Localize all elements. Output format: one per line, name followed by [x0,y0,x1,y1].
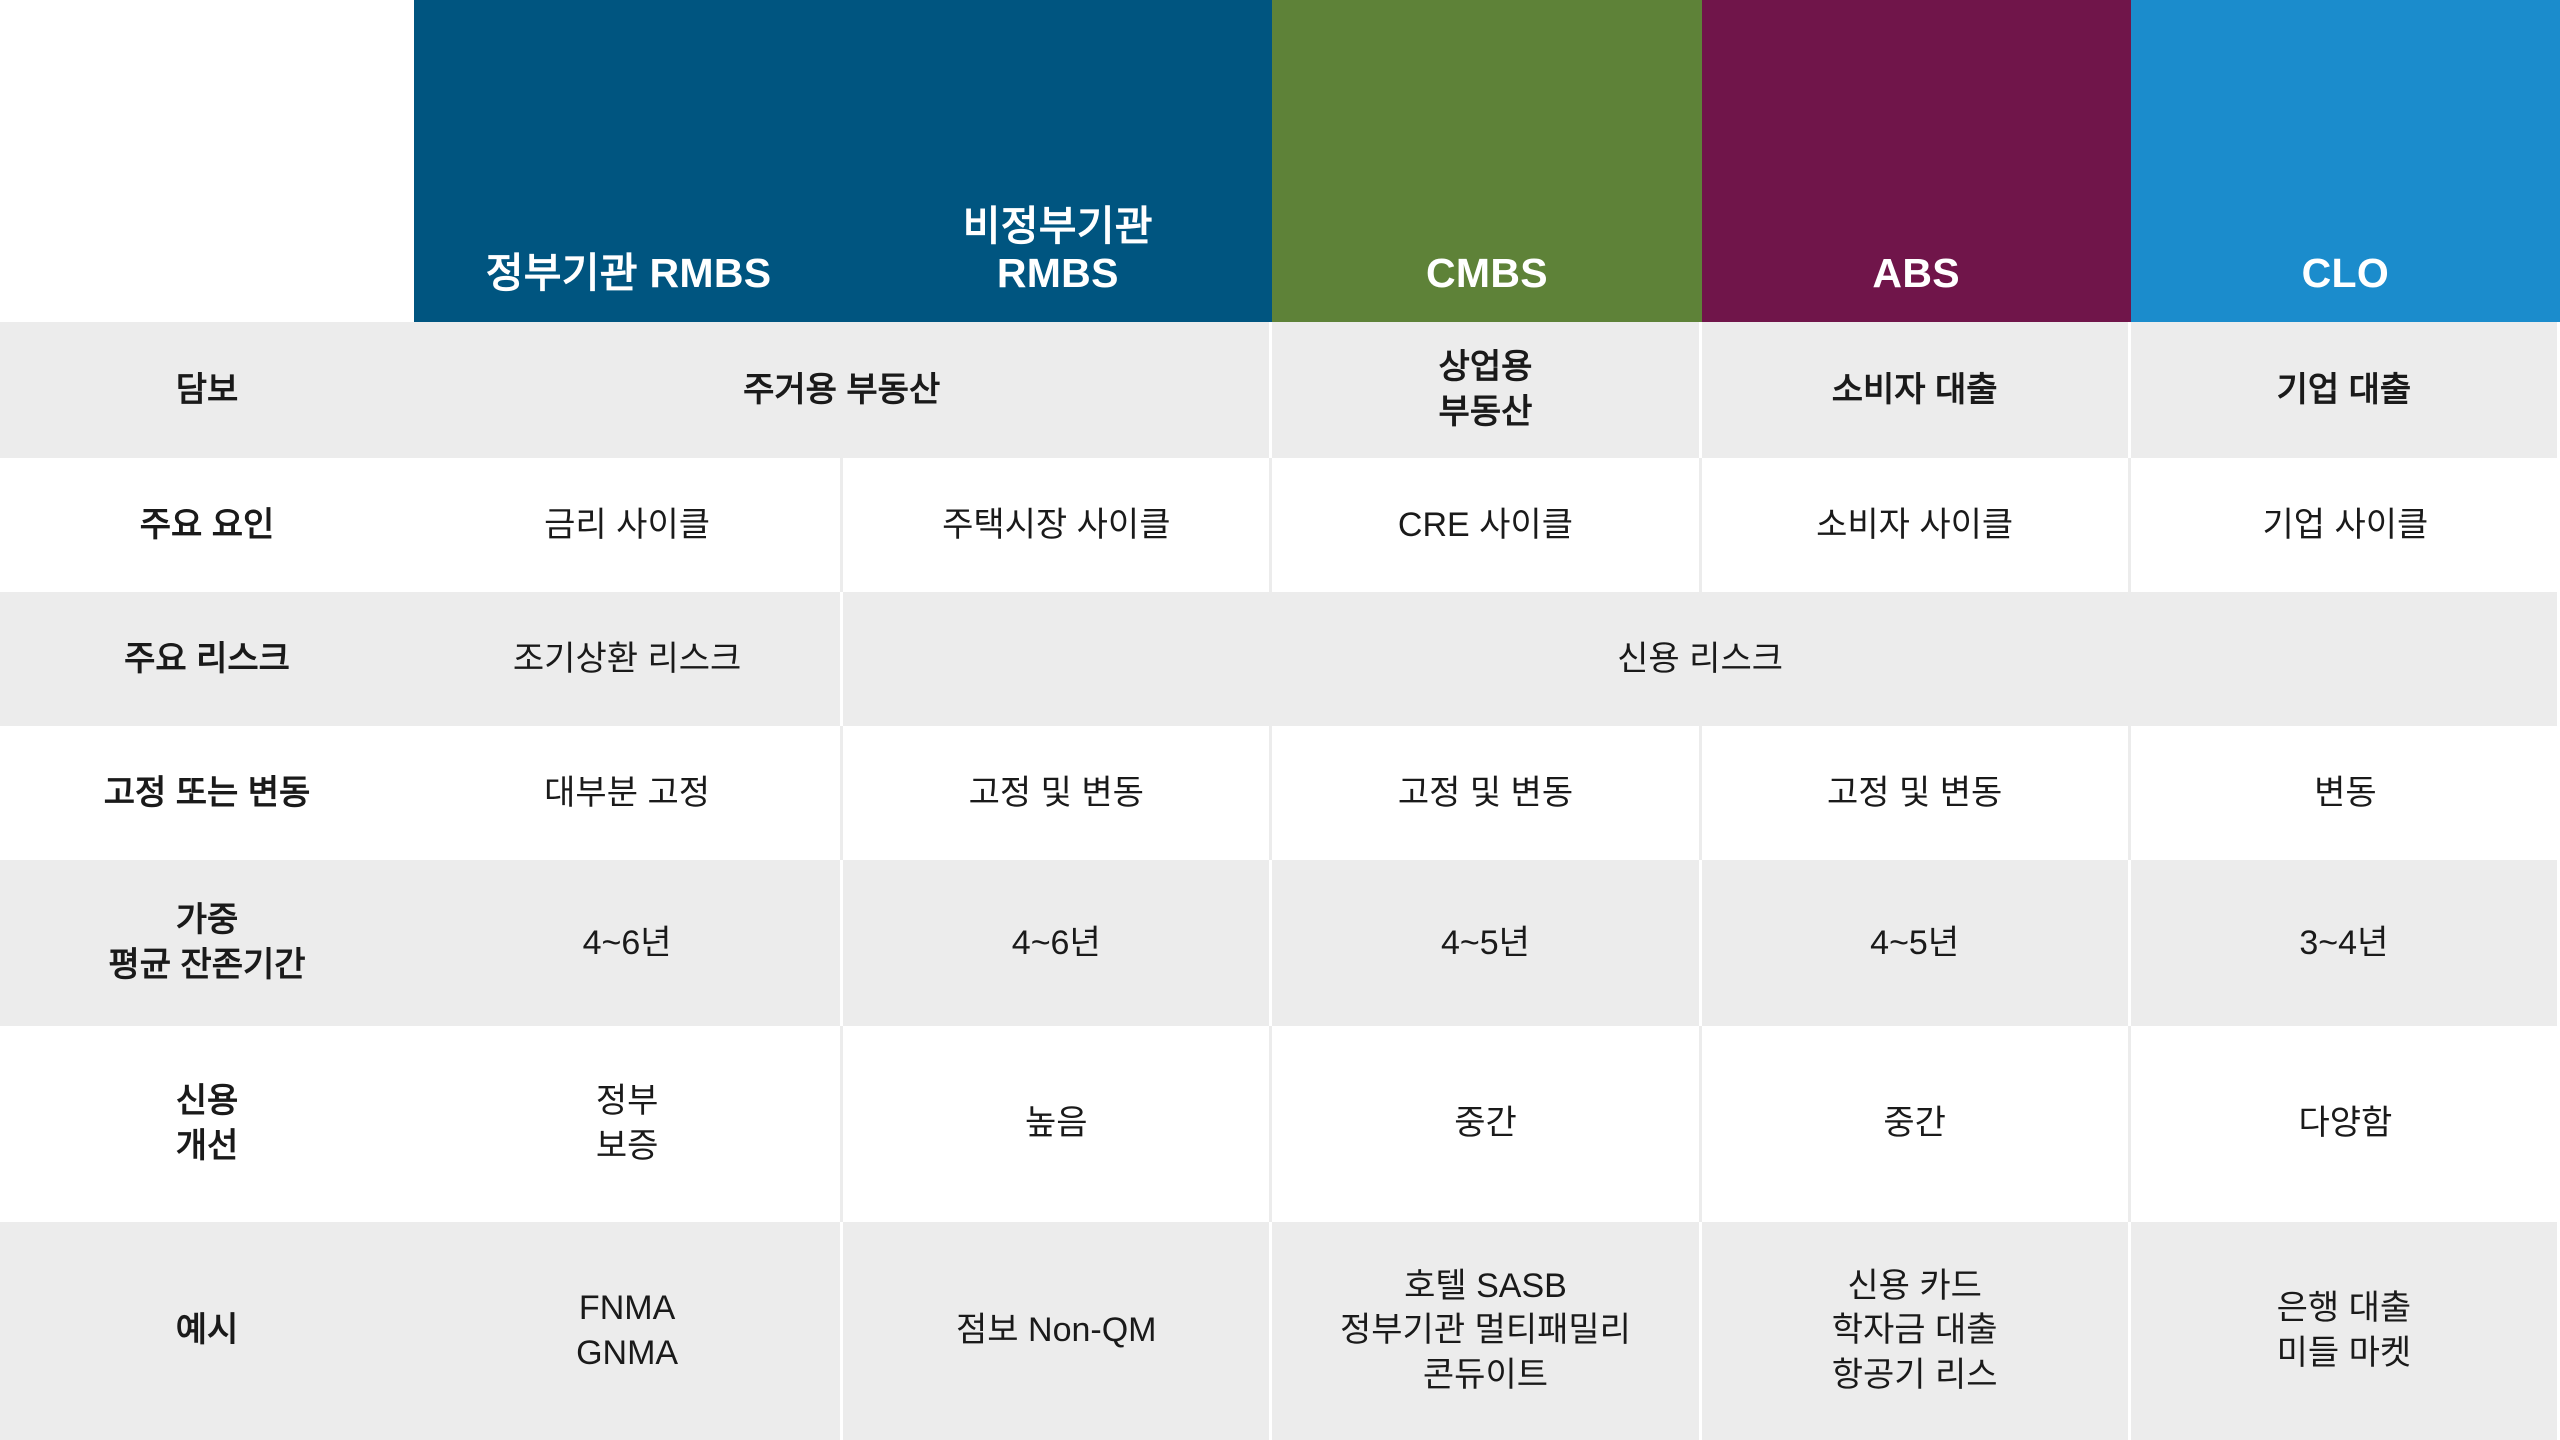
row-label-weighted-average-life: 가중 평균 잔존기간 [0,860,414,1026]
cell-rate-abs: 고정 및 변동 [1702,726,2131,860]
header-cell-nonagency-rmbs: 비정부기관 RMBS [843,0,1272,322]
cell-wal-abs: 4~5년 [1702,860,2131,1026]
table-row-collateral: 담보 주거용 부동산 상업용 부동산 소비자 대출 기업 대출 [0,322,2560,458]
header-row: 정부기관 RMBS 비정부기관 RMBS CMBS ABS CLO [0,0,2560,322]
cell-credit-nonagency-rmbs: 높음 [843,1026,1272,1222]
cell-examples-abs: 신용 카드 학자금 대출 항공기 리스 [1702,1222,2131,1440]
header-label-cmbs: CMBS [1282,250,1691,298]
cell-credit-clo: 다양함 [2131,1026,2560,1222]
header-label-abs: ABS [1712,250,2121,298]
header-cell-empty [0,0,414,322]
table-row-key-driver: 주요 요인 금리 사이클 주택시장 사이클 CRE 사이클 소비자 사이클 기업… [0,458,2560,592]
cell-collateral-commercial: 상업용 부동산 [1272,322,1701,458]
table-row-examples: 예시 FNMA GNMA 점보 Non-QM 호텔 SASB 정부기관 멀티패밀… [0,1222,2560,1440]
table-header: 정부기관 RMBS 비정부기관 RMBS CMBS ABS CLO [0,0,2560,322]
cell-rate-clo: 변동 [2131,726,2560,860]
cell-wal-cmbs: 4~5년 [1272,860,1701,1026]
comparison-table-slide: 정부기관 RMBS 비정부기관 RMBS CMBS ABS CLO 담보 주 [0,0,2560,1440]
cell-examples-cmbs: 호텔 SASB 정부기관 멀티패밀리 콘듀이트 [1272,1222,1701,1440]
cell-credit-abs: 중간 [1702,1026,2131,1222]
header-cell-clo: CLO [2131,0,2560,322]
cell-driver-cmbs: CRE 사이클 [1272,458,1701,592]
table-row-fixed-or-floating: 고정 또는 변동 대부분 고정 고정 및 변동 고정 및 변동 고정 및 변동 … [0,726,2560,860]
header-label-nonagency-rmbs: 비정부기관 RMBS [853,203,1262,298]
cell-driver-agency-rmbs: 금리 사이클 [414,458,843,592]
cell-wal-agency-rmbs: 4~6년 [414,860,843,1026]
cell-examples-nonagency-rmbs: 점보 Non-QM [843,1222,1272,1440]
header-cell-cmbs: CMBS [1272,0,1701,322]
cell-rate-agency-rmbs: 대부분 고정 [414,726,843,860]
header-label-clo: CLO [2141,250,2550,298]
table-row-credit-enhancement: 신용 개선 정부 보증 높음 중간 중간 다양함 [0,1026,2560,1222]
row-label-key-risk: 주요 리스크 [0,592,414,726]
cell-examples-agency-rmbs: FNMA GNMA [414,1222,843,1440]
cell-collateral-corporate: 기업 대출 [2131,322,2560,458]
row-label-examples: 예시 [0,1222,414,1440]
cell-rate-nonagency-rmbs: 고정 및 변동 [843,726,1272,860]
header-cell-abs: ABS [1702,0,2131,322]
table-body: 담보 주거용 부동산 상업용 부동산 소비자 대출 기업 대출 주요 요인 금리… [0,322,2560,1440]
row-label-credit-enhancement: 신용 개선 [0,1026,414,1222]
table-row-weighted-average-life: 가중 평균 잔존기간 4~6년 4~6년 4~5년 4~5년 3~4년 [0,860,2560,1026]
cell-examples-clo: 은행 대출 미들 마켓 [2131,1222,2560,1440]
securitized-products-comparison-table: 정부기관 RMBS 비정부기관 RMBS CMBS ABS CLO 담보 주 [0,0,2560,1440]
cell-credit-agency-rmbs: 정부 보증 [414,1026,843,1222]
header-label-agency-rmbs: 정부기관 RMBS [424,250,833,298]
cell-collateral-consumer: 소비자 대출 [1702,322,2131,458]
cell-credit-cmbs: 중간 [1272,1026,1701,1222]
cell-driver-nonagency-rmbs: 주택시장 사이클 [843,458,1272,592]
cell-wal-nonagency-rmbs: 4~6년 [843,860,1272,1026]
cell-collateral-residential: 주거용 부동산 [414,322,1272,458]
row-label-collateral: 담보 [0,322,414,458]
row-label-key-driver: 주요 요인 [0,458,414,592]
cell-risk-agency-rmbs: 조기상환 리스크 [414,592,843,726]
table-row-key-risk: 주요 리스크 조기상환 리스크 신용 리스크 [0,592,2560,726]
cell-rate-cmbs: 고정 및 변동 [1272,726,1701,860]
cell-risk-credit-merged: 신용 리스크 [843,592,2560,726]
header-cell-agency-rmbs: 정부기관 RMBS [414,0,843,322]
cell-driver-clo: 기업 사이클 [2131,458,2560,592]
cell-driver-abs: 소비자 사이클 [1702,458,2131,592]
cell-wal-clo: 3~4년 [2131,860,2560,1026]
row-label-fixed-or-floating: 고정 또는 변동 [0,726,414,860]
